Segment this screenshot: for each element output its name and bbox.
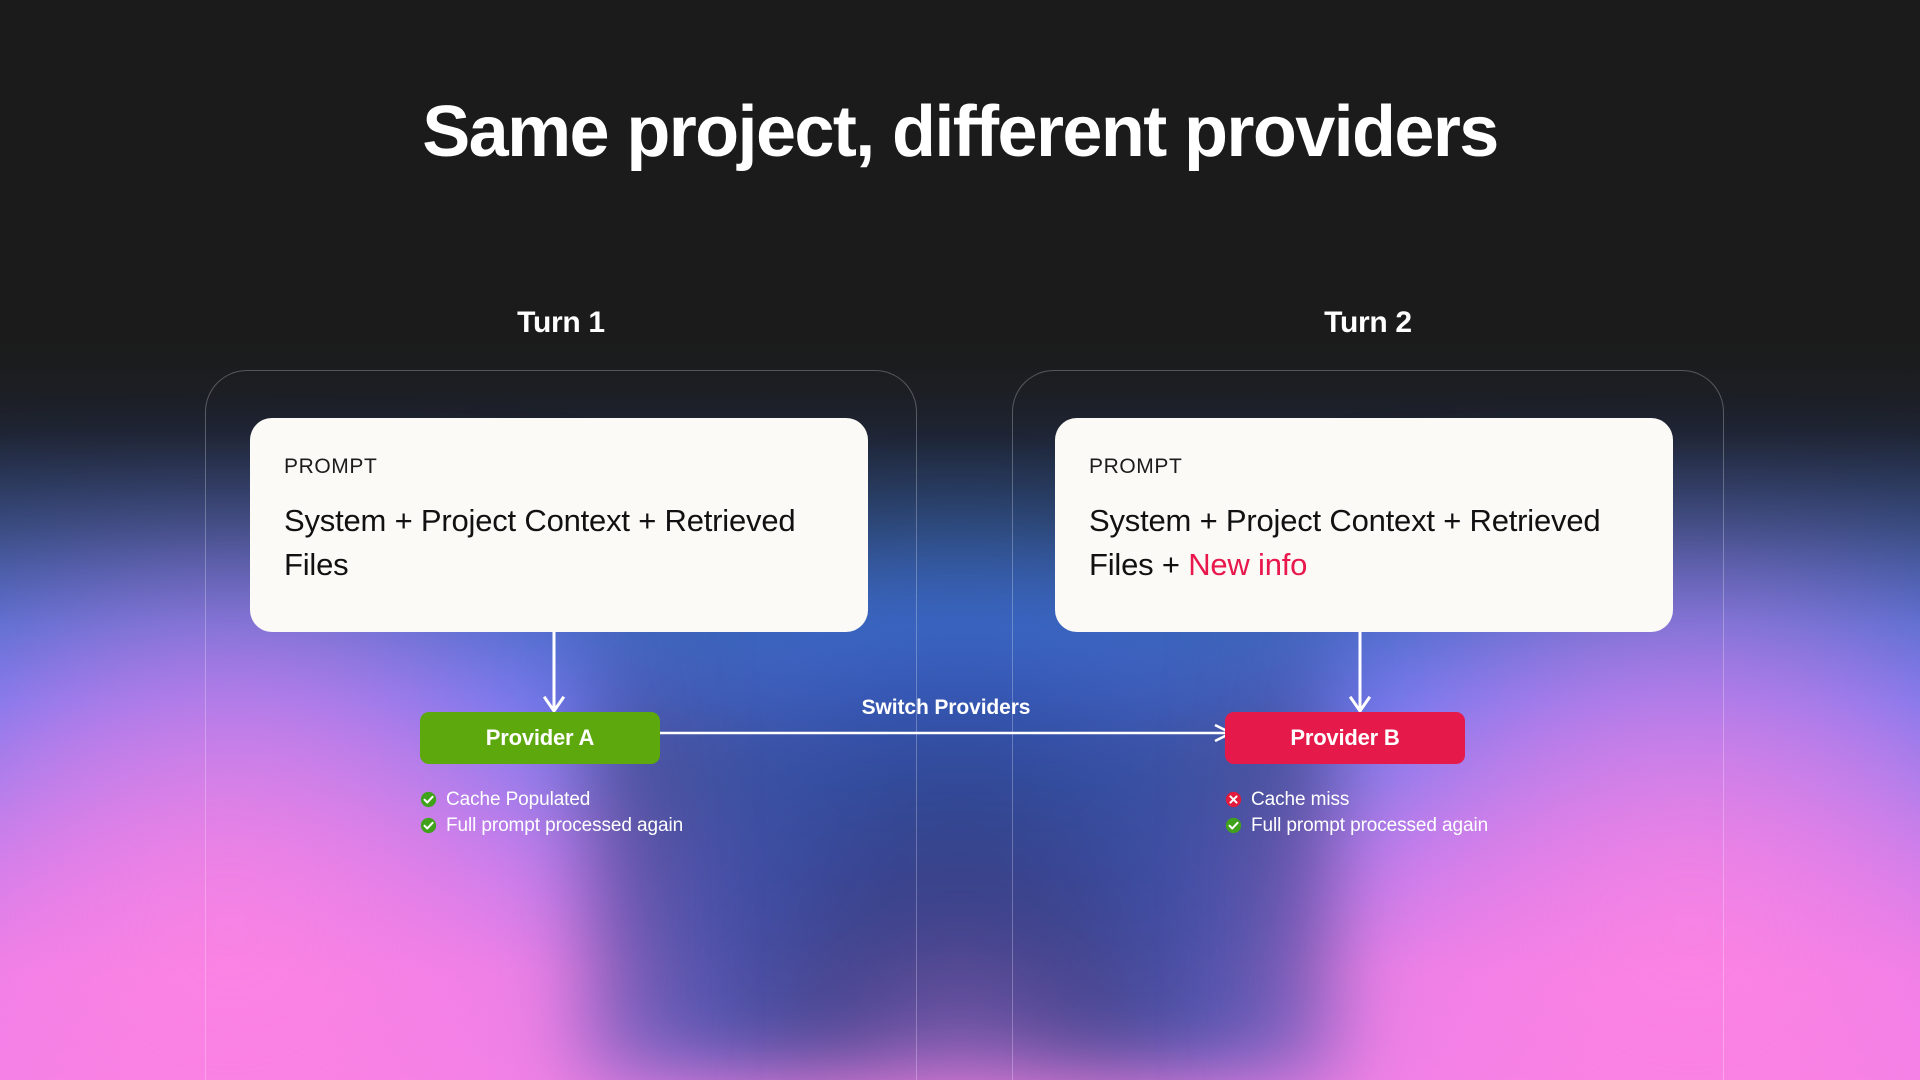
check-circle-icon <box>1225 817 1242 834</box>
turn-2-status-list: Cache miss Full prompt processed again <box>1225 787 1488 839</box>
turn-1-status-list: Cache Populated Full prompt processed ag… <box>420 787 683 839</box>
prompt-body-accent: New info <box>1188 547 1307 582</box>
page-title: Same project, different providers <box>0 96 1920 168</box>
status-item: Cache Populated <box>420 787 683 812</box>
turn-label-1: Turn 1 <box>205 306 917 340</box>
prompt-body-main: System + Project Context + Retrieved Fil… <box>284 503 795 582</box>
connector-arrow-switch-providers <box>655 722 1237 744</box>
status-label: Full prompt processed again <box>1251 815 1488 837</box>
provider-a-label: Provider A <box>486 725 594 751</box>
status-label: Cache miss <box>1251 789 1349 811</box>
prompt-card-turn-1: PROMPT System + Project Context + Retrie… <box>250 418 868 632</box>
status-label: Cache Populated <box>446 789 590 811</box>
status-item: Full prompt processed again <box>1225 813 1488 838</box>
prompt-card-turn-2: PROMPT System + Project Context + Retrie… <box>1055 418 1673 632</box>
connector-arrow-down-turn-1 <box>541 632 567 720</box>
provider-a-button[interactable]: Provider A <box>420 712 660 764</box>
switch-providers-label: Switch Providers <box>655 696 1237 720</box>
check-circle-icon <box>420 817 437 834</box>
prompt-kicker: PROMPT <box>1089 456 1639 477</box>
status-item: Cache miss <box>1225 787 1488 812</box>
prompt-body: System + Project Context + Retrieved Fil… <box>1089 499 1639 587</box>
status-item: Full prompt processed again <box>420 813 683 838</box>
provider-b-button[interactable]: Provider B <box>1225 712 1465 764</box>
check-circle-icon <box>420 791 437 808</box>
status-label: Full prompt processed again <box>446 815 683 837</box>
provider-b-label: Provider B <box>1290 725 1399 751</box>
turn-label-2: Turn 2 <box>1012 306 1724 340</box>
prompt-kicker: PROMPT <box>284 456 834 477</box>
prompt-body: System + Project Context + Retrieved Fil… <box>284 499 834 587</box>
prompt-body-main: System + Project Context + Retrieved Fil… <box>1089 503 1600 582</box>
connector-arrow-down-turn-2 <box>1347 632 1373 720</box>
x-circle-icon <box>1225 791 1242 808</box>
